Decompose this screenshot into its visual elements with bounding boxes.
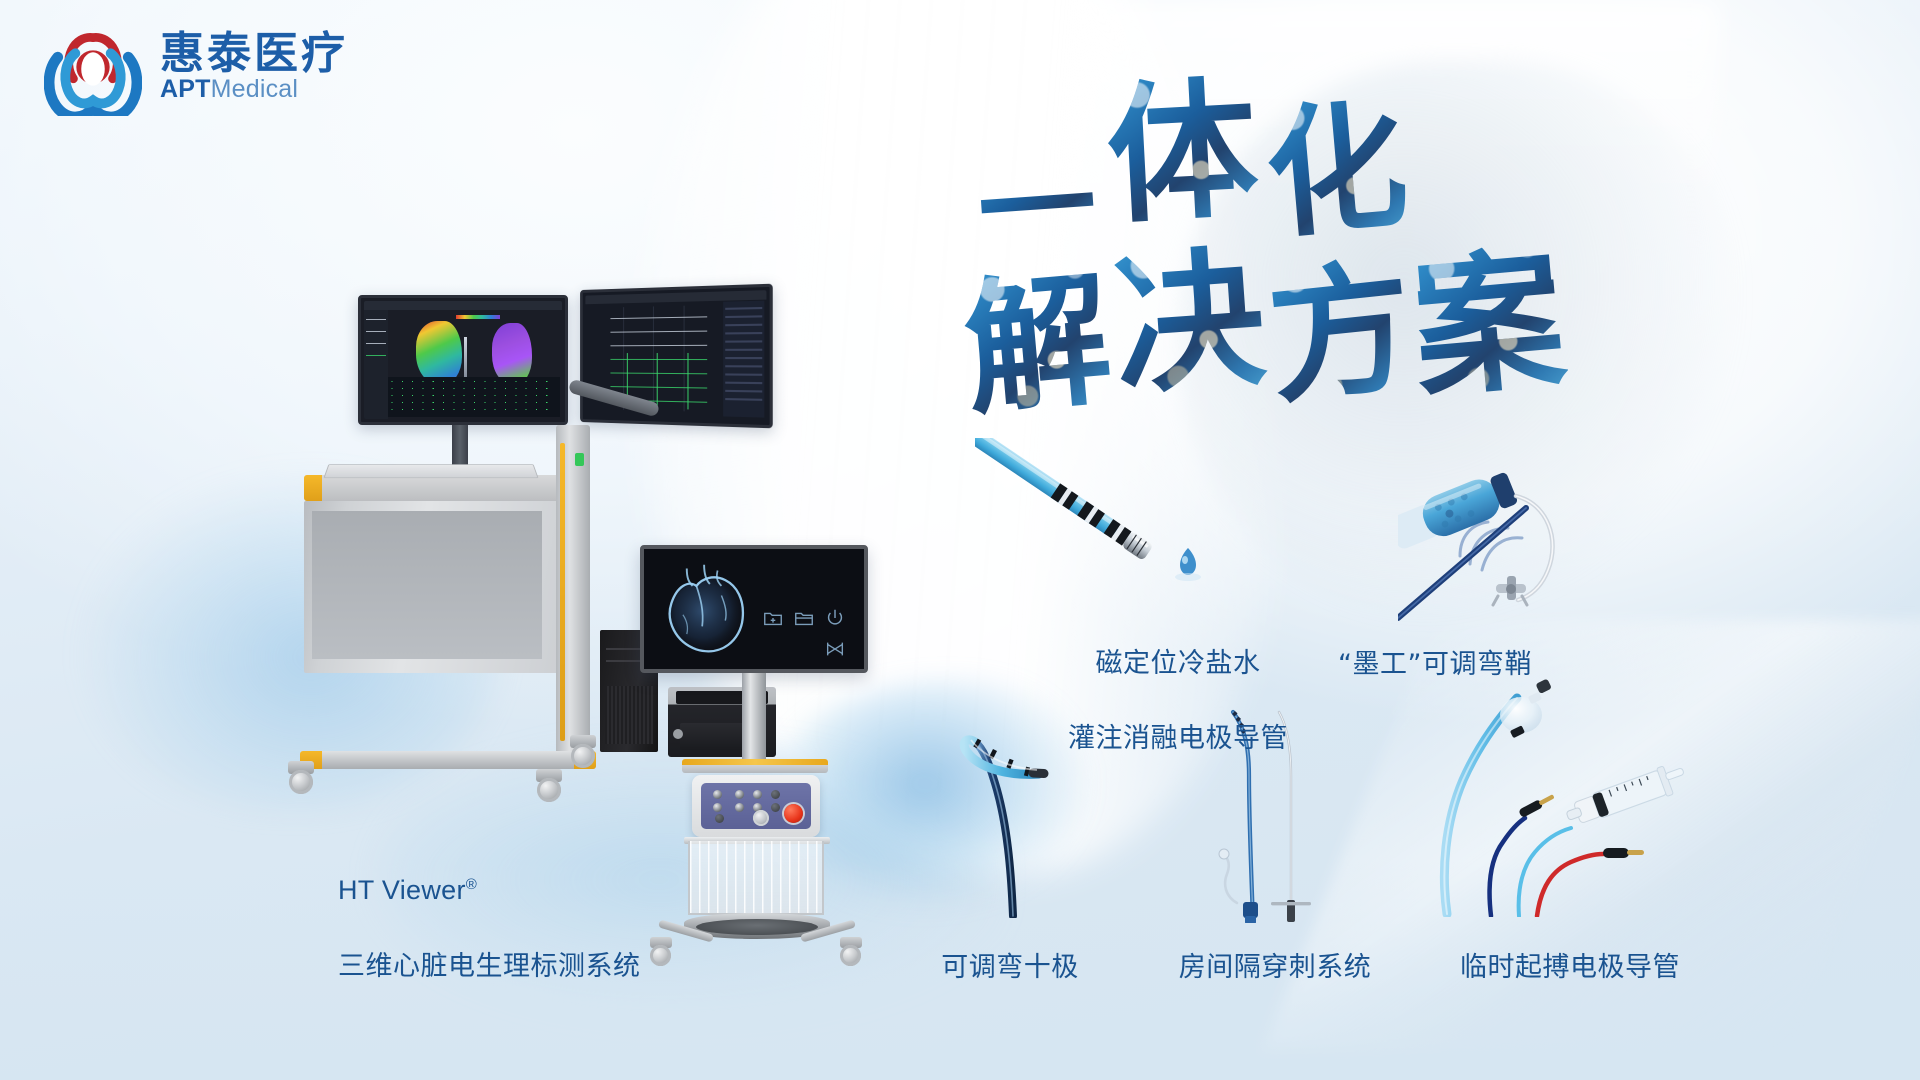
ablation-generator-console[interactable] <box>692 775 820 837</box>
caster-wheel <box>534 769 564 805</box>
brand-wordmark: 惠泰医疗 APTMedical <box>160 32 348 102</box>
sheath-hub-septal <box>1243 902 1258 923</box>
right-atrium-map <box>492 323 532 385</box>
caster-wheel <box>568 735 598 771</box>
label-pacing-catheter: 临时起搏电极导管 <box>1455 949 1685 986</box>
power-icon[interactable] <box>824 607 846 629</box>
red-pin-connector <box>1603 848 1644 858</box>
label-irrigated-catheter-line1: 磁定位冷盐水 <box>1048 645 1308 682</box>
label-irrigated-catheter: 磁定位冷盐水 灌注消融电极导管 <box>1048 608 1308 794</box>
brand-name-cn: 惠泰医疗 <box>160 32 348 76</box>
heart-touch-display[interactable] <box>640 545 868 673</box>
heart-touch-display-stand <box>640 545 920 985</box>
label-irrigated-catheter-line2: 灌注消融电极导管 <box>1048 720 1308 757</box>
display-icon-row <box>758 607 846 660</box>
voltage-color-scale <box>456 315 500 319</box>
power-led-indicator <box>575 453 584 466</box>
poster-canvas: 惠泰医疗 APTMedical 一体化 解决方案 <box>0 0 1920 1080</box>
mapping-toolbar <box>364 301 562 310</box>
keyboard-tray <box>304 475 584 501</box>
console-top-tray <box>682 759 828 773</box>
ht-viewer-equipment-cart <box>300 295 680 815</box>
cart-frame <box>304 501 586 673</box>
cart-base-shelf <box>300 751 596 769</box>
headline-char-jie: 解 <box>955 221 1118 443</box>
label-transseptal-system: 房间隔穿刺系统 <box>1175 949 1375 986</box>
label-mapping-system: HT Viewer® 三维心脏电生理标测系统 <box>338 833 641 1025</box>
brand-name-en-bold: APT <box>160 75 211 103</box>
3d-mapping-display <box>358 295 568 425</box>
headline-char-jue: 决 <box>1106 197 1271 424</box>
3d-mapping-screen-content <box>364 301 562 419</box>
console-connector-panel <box>701 783 811 829</box>
left-atrium-map <box>416 321 462 385</box>
headline-line-2: 解决方案 <box>963 208 1563 425</box>
console-base-recess <box>696 919 818 935</box>
label-decapolar-catheter: 可调弯十极 <box>930 949 1090 986</box>
temporary-pacing-catheter-image <box>1425 672 1695 917</box>
brand-name-en-light: Medical <box>211 75 299 103</box>
headline-char-fang: 方 <box>1258 211 1422 432</box>
headline-calligraphy: 一体化 解决方案 <box>975 40 1635 370</box>
catheter-trace <box>464 337 467 381</box>
label-steerable-sheath: “墨工”可调弯鞘 <box>1320 646 1550 683</box>
cart-equipment-bay <box>312 511 542 659</box>
apt-medical-logo-icon <box>44 18 142 116</box>
cart-column-accent <box>560 443 565 741</box>
steerable-sheath-image <box>1398 448 1648 623</box>
cart-column <box>556 425 590 765</box>
measurement-number-panel <box>723 301 764 418</box>
brand-logo: 惠泰医疗 APTMedical <box>44 18 348 116</box>
intracardiac-signal-band <box>388 377 560 417</box>
electrophysiology-recording-display <box>580 284 773 429</box>
label-mapping-system-en: HT Viewer® <box>338 871 641 909</box>
irrigation-droplet <box>1175 548 1201 581</box>
brand-name-en: APTMedical <box>160 77 348 102</box>
display-post <box>742 673 766 765</box>
irrigated-ablation-catheter-image <box>975 438 1205 598</box>
accessory-basket <box>688 841 824 915</box>
emergency-stop-button[interactable] <box>784 804 803 823</box>
segmentation-icon[interactable] <box>824 638 846 660</box>
caster-wheel <box>286 761 316 797</box>
caster-wheel <box>838 937 864 967</box>
open-case-icon[interactable] <box>793 607 815 629</box>
mapping-sidebar <box>364 310 388 419</box>
sheath-curve-arcs <box>1460 522 1522 570</box>
blue-pin-connector <box>1518 792 1556 818</box>
heart-illustration <box>654 557 760 661</box>
keyboard[interactable] <box>323 464 538 478</box>
headline-char-an: 案 <box>1403 198 1571 427</box>
label-mapping-system-cn: 三维心脏电生理标测系统 <box>338 948 641 986</box>
new-case-icon[interactable] <box>762 607 784 629</box>
tray-bumper-left <box>304 475 322 501</box>
caster-wheel <box>648 937 674 967</box>
inflation-syringe <box>1563 760 1690 831</box>
